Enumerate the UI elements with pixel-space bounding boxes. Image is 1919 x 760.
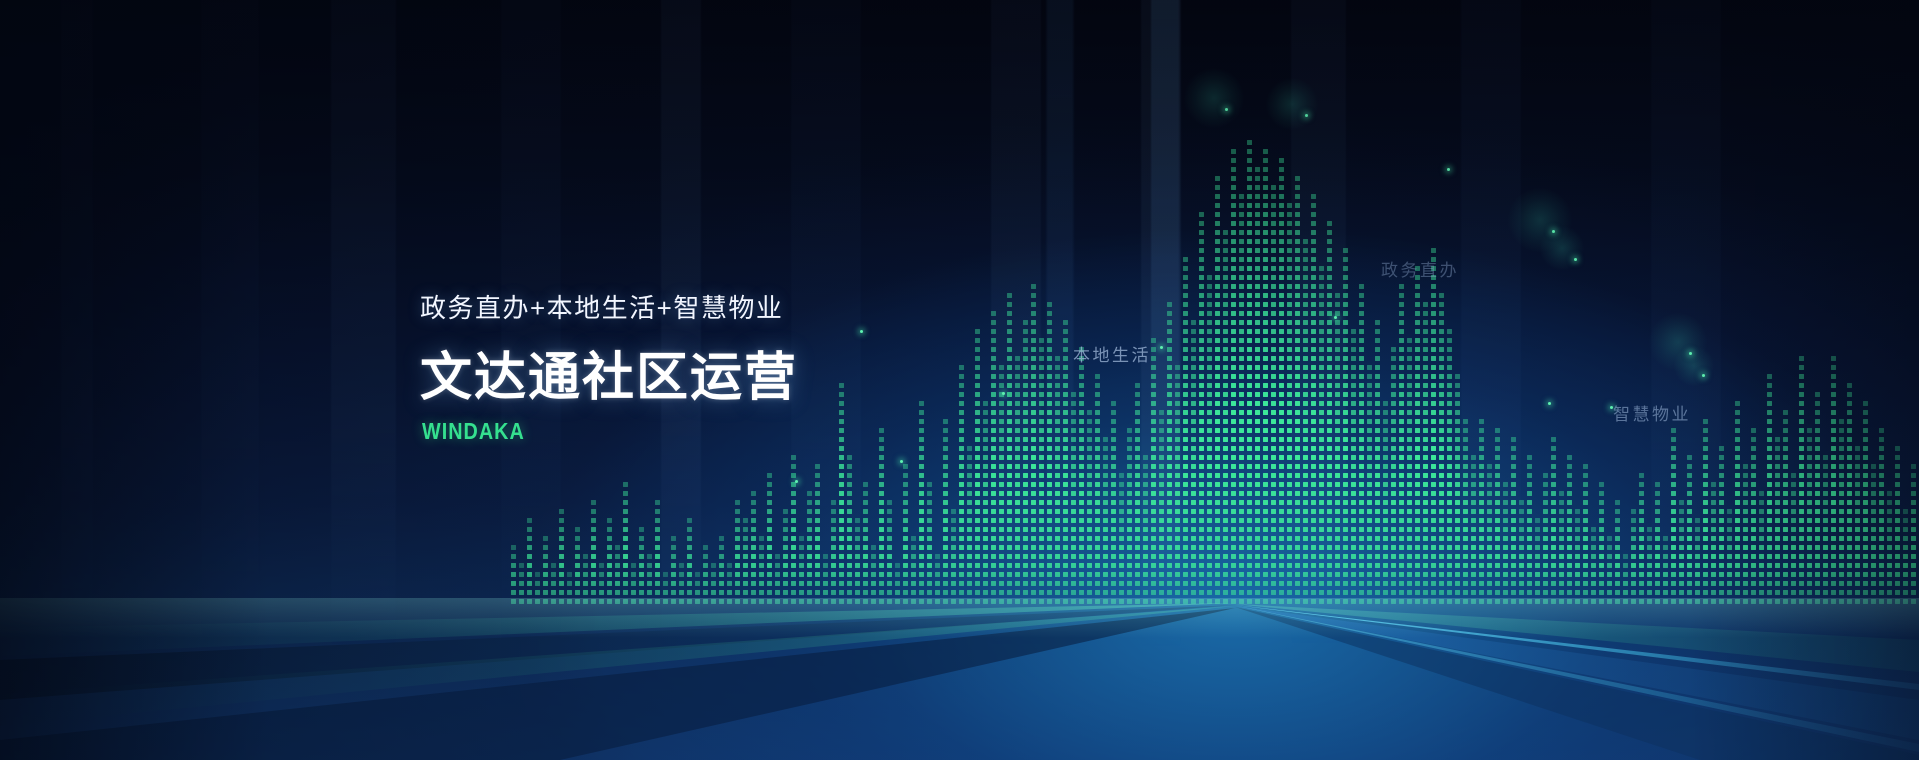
banner-stage: 政务直办+本地生活+智慧物业 文达通社区运营 WINDAKA 政务直办 本地生活… [0, 0, 1919, 760]
perspective-rays [0, 0, 1919, 760]
city-label-government-service: 政务直办 [1381, 256, 1459, 281]
city-label-local-life: 本地生活 [1073, 341, 1151, 366]
headline-text-block: 政务直办+本地生活+智慧物业 文达通社区运营 WINDAKA [420, 288, 798, 445]
banner-subtitle: 政务直办+本地生活+智慧物业 [420, 288, 798, 325]
brand-wordmark: WINDAKA [422, 418, 745, 445]
banner-headline: 文达通社区运营 [420, 335, 798, 410]
city-label-smart-property: 智慧物业 [1613, 400, 1691, 425]
